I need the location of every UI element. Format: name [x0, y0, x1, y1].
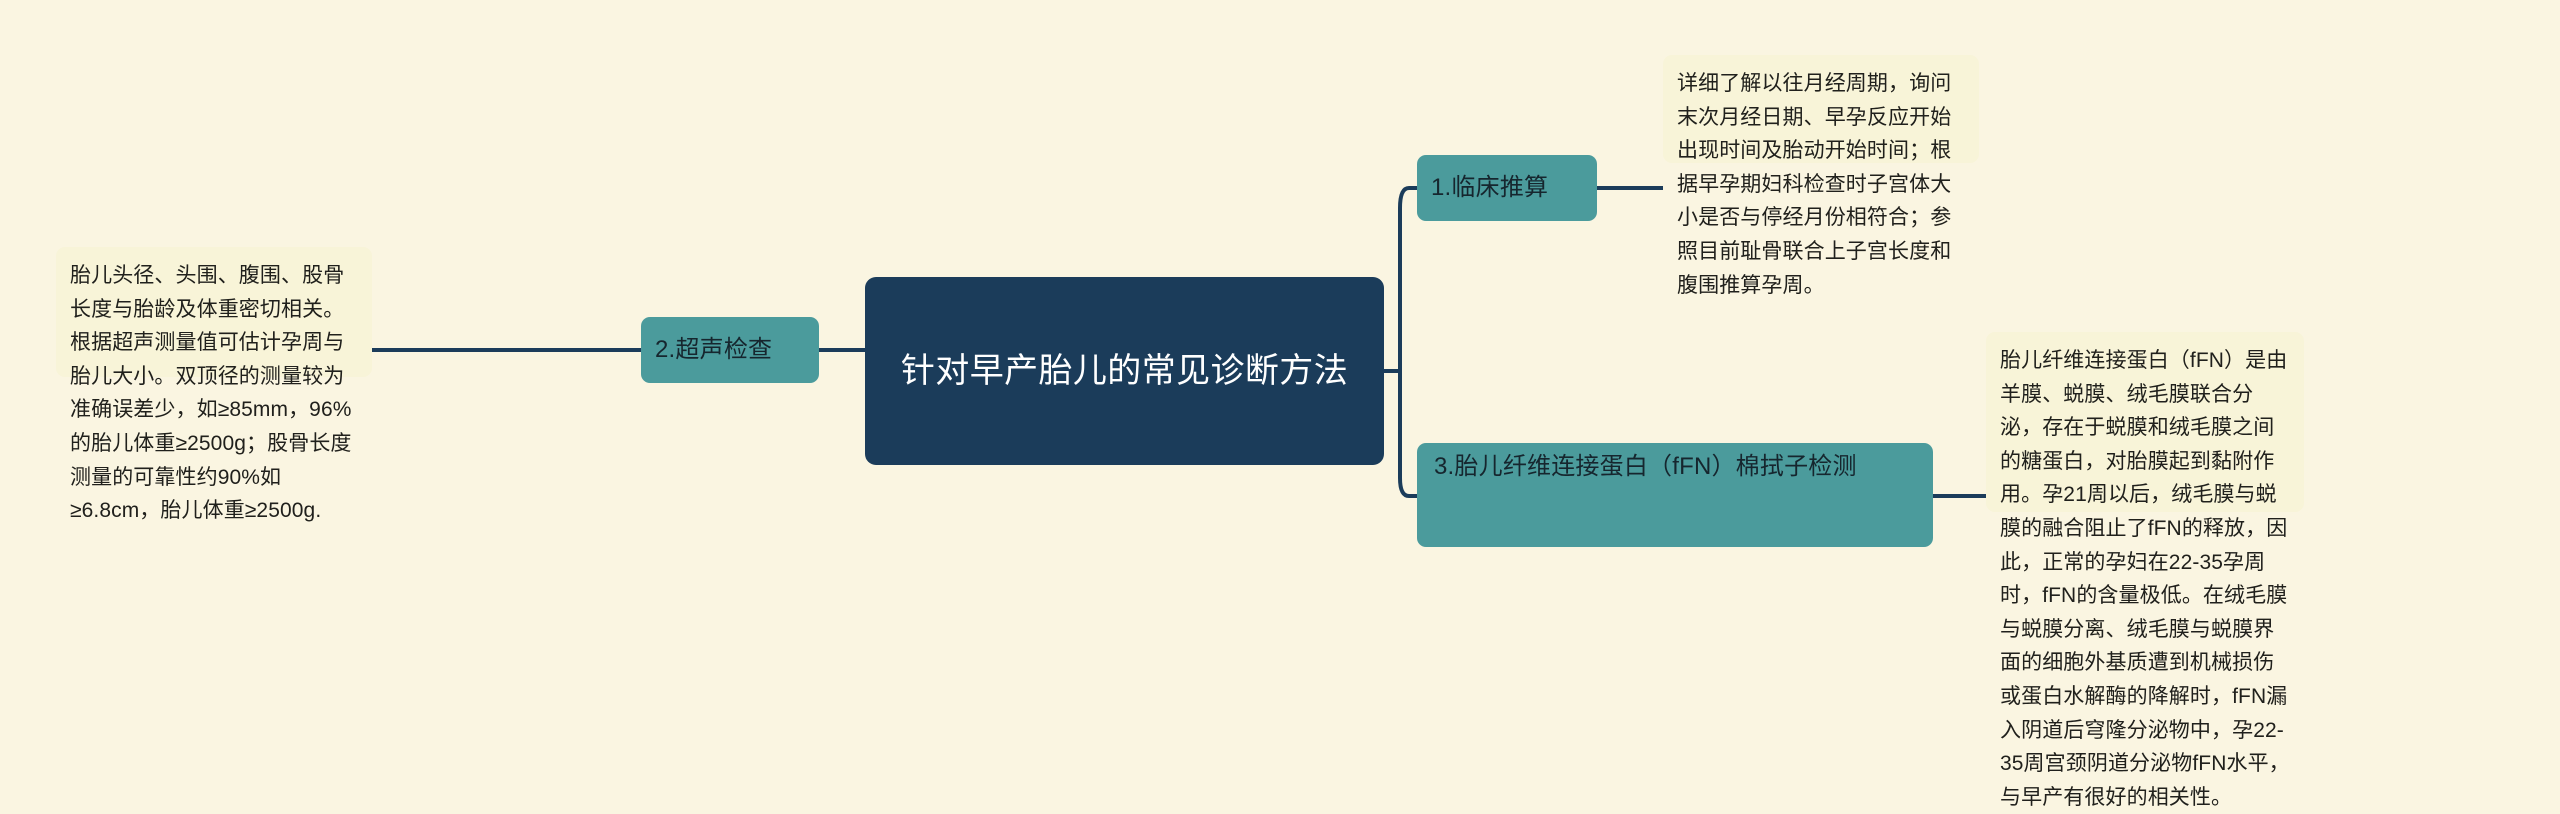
branch-node-label: 2.超声检查: [655, 334, 772, 367]
root-node-label: 针对早产胎儿的常见诊断方法: [901, 347, 1348, 395]
branch-node-ffn-swab[interactable]: 3.胎儿纤维连接蛋白（fFN）棉拭子检测: [1417, 443, 1933, 547]
detail-box-ffn-swab: 胎儿纤维连接蛋白（fFN）是由羊膜、蜕膜、绒毛膜联合分泌，存在于蜕膜和绒毛膜之间…: [1986, 332, 2304, 512]
detail-box-ultrasound: 胎儿头径、头围、腹围、股骨长度与胎龄及体重密切相关。根据超声测量值可估计孕周与胎…: [56, 247, 372, 377]
branch-node-label: 3.胎儿纤维连接蛋白（fFN）棉拭子检测: [1434, 450, 1857, 484]
detail-box-text: 胎儿纤维连接蛋白（fFN）是由羊膜、蜕膜、绒毛膜联合分泌，存在于蜕膜和绒毛膜之间…: [2000, 344, 2290, 814]
branch-node-label: 1.临床推算: [1431, 172, 1548, 205]
detail-box-text: 详细了解以往月经周期，询问末次月经日期、早孕反应开始出现时间及胎动开始时间；根据…: [1677, 67, 1965, 302]
branch-node-ultrasound[interactable]: 2.超声检查: [641, 317, 819, 383]
mindmap-canvas: 针对早产胎儿的常见诊断方法 1.临床推算 2.超声检查 3.胎儿纤维连接蛋白（f…: [0, 0, 2560, 755]
detail-box-clinical-estimation: 详细了解以往月经周期，询问末次月经日期、早孕反应开始出现时间及胎动开始时间；根据…: [1663, 55, 1979, 163]
branch-node-clinical-estimation[interactable]: 1.临床推算: [1417, 155, 1597, 221]
root-node[interactable]: 针对早产胎儿的常见诊断方法: [865, 277, 1384, 465]
detail-box-text: 胎儿头径、头围、腹围、股骨长度与胎龄及体重密切相关。根据超声测量值可估计孕周与胎…: [70, 259, 358, 528]
